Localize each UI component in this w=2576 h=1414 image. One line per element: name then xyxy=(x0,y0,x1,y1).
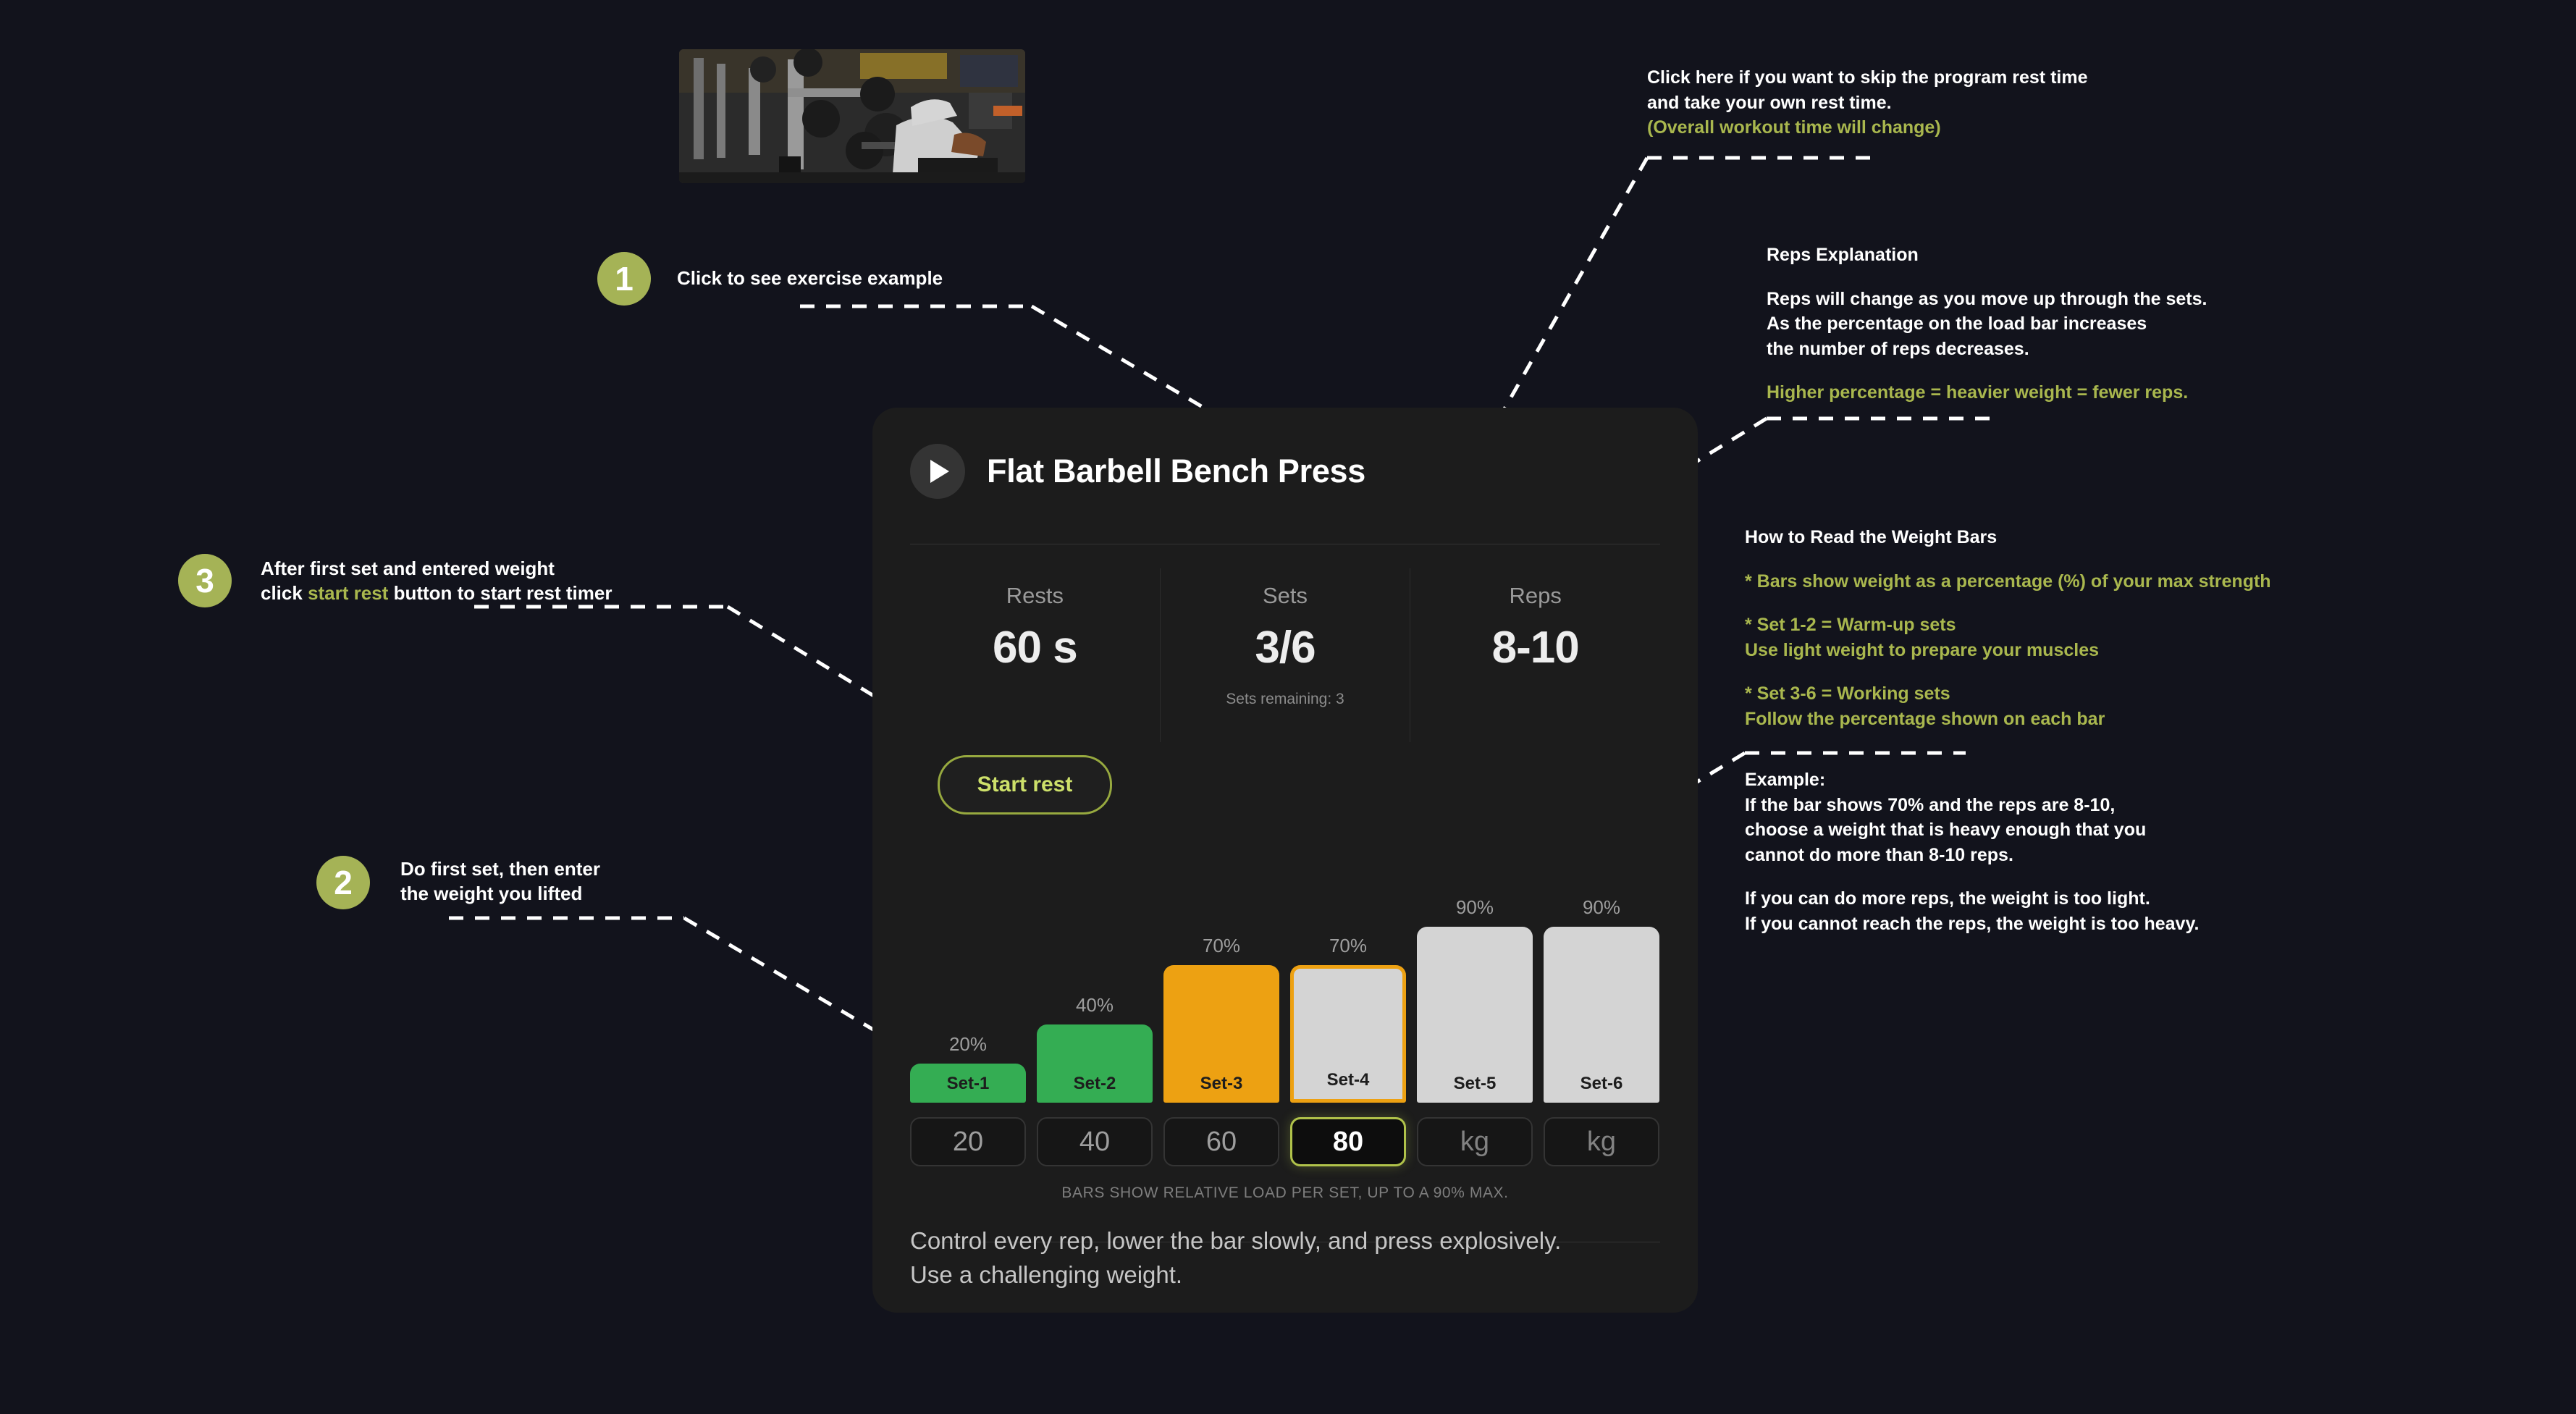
step-badge-1: 1 xyxy=(597,252,651,306)
skip-rest-line-3: (Overall workout time will change) xyxy=(1647,115,2087,140)
note-reps-explanation: Reps Explanation Reps will change as you… xyxy=(1767,243,2207,405)
skip-rest-line-2: and take your own rest time. xyxy=(1647,91,2087,116)
weight-bars-line-1: * Bars show weight as a percentage (%) o… xyxy=(1745,569,2271,594)
weight-bars-line-7: Follow the percentage shown on each bar xyxy=(1745,707,2271,732)
weight-inputs-row: 20 40 60 80 kg kg xyxy=(910,1117,1660,1169)
example-line-6: If you can do more reps, the weight is t… xyxy=(1745,886,2199,912)
play-icon[interactable] xyxy=(910,444,965,499)
example-line-2: If the bar shows 70% and the reps are 8-… xyxy=(1745,793,2199,818)
step-3-prefix: click xyxy=(261,582,308,604)
step-3-line-1: After first set and entered weight xyxy=(261,556,612,581)
weight-input-set-2[interactable]: 40 xyxy=(1037,1117,1153,1166)
play-triangle xyxy=(930,460,949,483)
step-2-line-2: the weight you lifted xyxy=(400,881,600,906)
bar-rect: Set-5 xyxy=(1417,927,1533,1103)
bar-percent: 40% xyxy=(1076,994,1114,1017)
bar-label: Set-6 xyxy=(1580,1074,1623,1103)
bar-percent: 90% xyxy=(1456,896,1494,919)
note-weight-bars: How to Read the Weight Bars * Bars show … xyxy=(1745,525,2271,731)
bar-col-set-2[interactable]: 40% Set-2 xyxy=(1037,994,1153,1103)
annotated-screenshot: 1 Click to see exercise example 2 Do fir… xyxy=(0,0,2576,1414)
exercise-title: Flat Barbell Bench Press xyxy=(987,453,1365,490)
stat-label: Sets xyxy=(1161,583,1410,609)
gym-photo xyxy=(679,49,1025,183)
step-number: 1 xyxy=(615,259,634,298)
step-2-line-1: Do first set, then enter xyxy=(400,857,600,881)
start-rest-button[interactable]: Start rest xyxy=(938,755,1112,815)
bar-label: Set-2 xyxy=(1074,1074,1116,1103)
bar-percent: 90% xyxy=(1583,896,1620,919)
exercise-example-thumbnail[interactable] xyxy=(679,49,1025,183)
bar-label: Set-5 xyxy=(1454,1074,1497,1103)
stat-rests: Rests 60 s xyxy=(910,568,1160,742)
reps-explanation-title: Reps Explanation xyxy=(1767,243,2207,268)
weight-input-set-6[interactable]: kg xyxy=(1544,1117,1659,1166)
bar-rect: Set-1 xyxy=(910,1064,1026,1103)
step-2-text: Do first set, then enter the weight you … xyxy=(400,857,600,906)
step-3-line-2: click start rest button to start rest ti… xyxy=(261,581,612,605)
bar-col-set-4[interactable]: 70% Set-4 xyxy=(1290,935,1406,1103)
exercise-description: Control every rep, lower the bar slowly,… xyxy=(910,1224,1605,1292)
stat-value: 8-10 xyxy=(1410,622,1660,673)
step-1-text: Click to see exercise example xyxy=(677,266,943,290)
step-1-line-1: Click to see exercise example xyxy=(677,266,943,290)
stat-reps: Reps 8-10 xyxy=(1410,568,1660,742)
stat-value: 60 s xyxy=(910,622,1160,673)
reps-explanation-line-2: As the percentage on the load bar increa… xyxy=(1767,311,2207,337)
bar-percent: 20% xyxy=(949,1033,987,1056)
reps-explanation-line-1: Reps will change as you move up through … xyxy=(1767,287,2207,312)
load-bars-chart: 20% Set-1 40% Set-2 70% Set-3 70% xyxy=(910,842,1660,1103)
example-line-7: If you cannot reach the reps, the weight… xyxy=(1745,912,2199,937)
bar-rect: Set-6 xyxy=(1544,927,1659,1103)
bar-col-set-6[interactable]: 90% Set-6 xyxy=(1544,896,1659,1103)
skip-rest-line-1: Click here if you want to skip the progr… xyxy=(1647,65,2087,91)
note-skip-rest: Click here if you want to skip the progr… xyxy=(1647,65,2087,140)
weight-input-set-3[interactable]: 60 xyxy=(1163,1117,1279,1166)
stat-sub: Sets remaining: 3 xyxy=(1161,691,1410,708)
bar-label: Set-3 xyxy=(1200,1074,1243,1103)
bars-caption: BARS SHOW RELATIVE LOAD PER SET, UP TO A… xyxy=(872,1184,1698,1202)
bar-col-set-1[interactable]: 20% Set-1 xyxy=(910,1033,1026,1103)
stat-label: Rests xyxy=(910,583,1160,609)
stat-sets: Sets 3/6 Sets remaining: 3 xyxy=(1160,568,1410,742)
stats-row: Rests 60 s Sets 3/6 Sets remaining: 3 Re… xyxy=(910,568,1660,742)
bar-col-set-5[interactable]: 90% Set-5 xyxy=(1417,896,1533,1103)
weight-input-set-5[interactable]: kg xyxy=(1417,1117,1533,1166)
bar-col-set-3[interactable]: 70% Set-3 xyxy=(1163,935,1279,1103)
bar-label: Set-4 xyxy=(1327,1070,1370,1099)
reps-explanation-line-3: the number of reps decreases. xyxy=(1767,337,2207,362)
card-header: Flat Barbell Bench Press xyxy=(910,444,1365,499)
example-line-3: choose a weight that is heavy enough tha… xyxy=(1745,817,2199,843)
weight-bars-line-4: Use light weight to prepare your muscles xyxy=(1745,638,2271,663)
step-3-text: After first set and entered weight click… xyxy=(261,556,612,606)
weight-bars-line-6: * Set 3-6 = Working sets xyxy=(1745,681,2271,707)
weight-bars-line-3: * Set 1-2 = Warm-up sets xyxy=(1745,613,2271,638)
exercise-card: Flat Barbell Bench Press Rests 60 s Sets… xyxy=(872,408,1698,1313)
step-3-suffix: button to start rest timer xyxy=(388,582,612,604)
stat-value: 3/6 xyxy=(1161,622,1410,673)
bar-percent: 70% xyxy=(1203,935,1240,957)
step-badge-3: 3 xyxy=(178,554,232,607)
example-line-4: cannot do more than 8-10 reps. xyxy=(1745,843,2199,868)
step-badge-2: 2 xyxy=(316,856,370,909)
weight-input-set-1[interactable]: 20 xyxy=(910,1117,1026,1166)
bar-rect: Set-4 xyxy=(1290,965,1406,1103)
example-line-1: Example: xyxy=(1745,767,2199,793)
weight-input-set-4[interactable]: 80 xyxy=(1290,1117,1406,1166)
step-number: 3 xyxy=(195,561,214,600)
bar-rect: Set-3 xyxy=(1163,965,1279,1103)
divider-top xyxy=(910,544,1660,544)
weight-bars-title: How to Read the Weight Bars xyxy=(1745,525,2271,550)
bar-label: Set-1 xyxy=(947,1074,990,1103)
reps-explanation-highlight: Higher percentage = heavier weight = few… xyxy=(1767,380,2207,405)
step-3-accent: start rest xyxy=(308,582,388,604)
bar-percent: 70% xyxy=(1329,935,1367,957)
stat-label: Reps xyxy=(1410,583,1660,609)
step-number: 2 xyxy=(334,863,353,902)
note-example: Example: If the bar shows 70% and the re… xyxy=(1745,767,2199,936)
bar-rect: Set-2 xyxy=(1037,1024,1153,1103)
